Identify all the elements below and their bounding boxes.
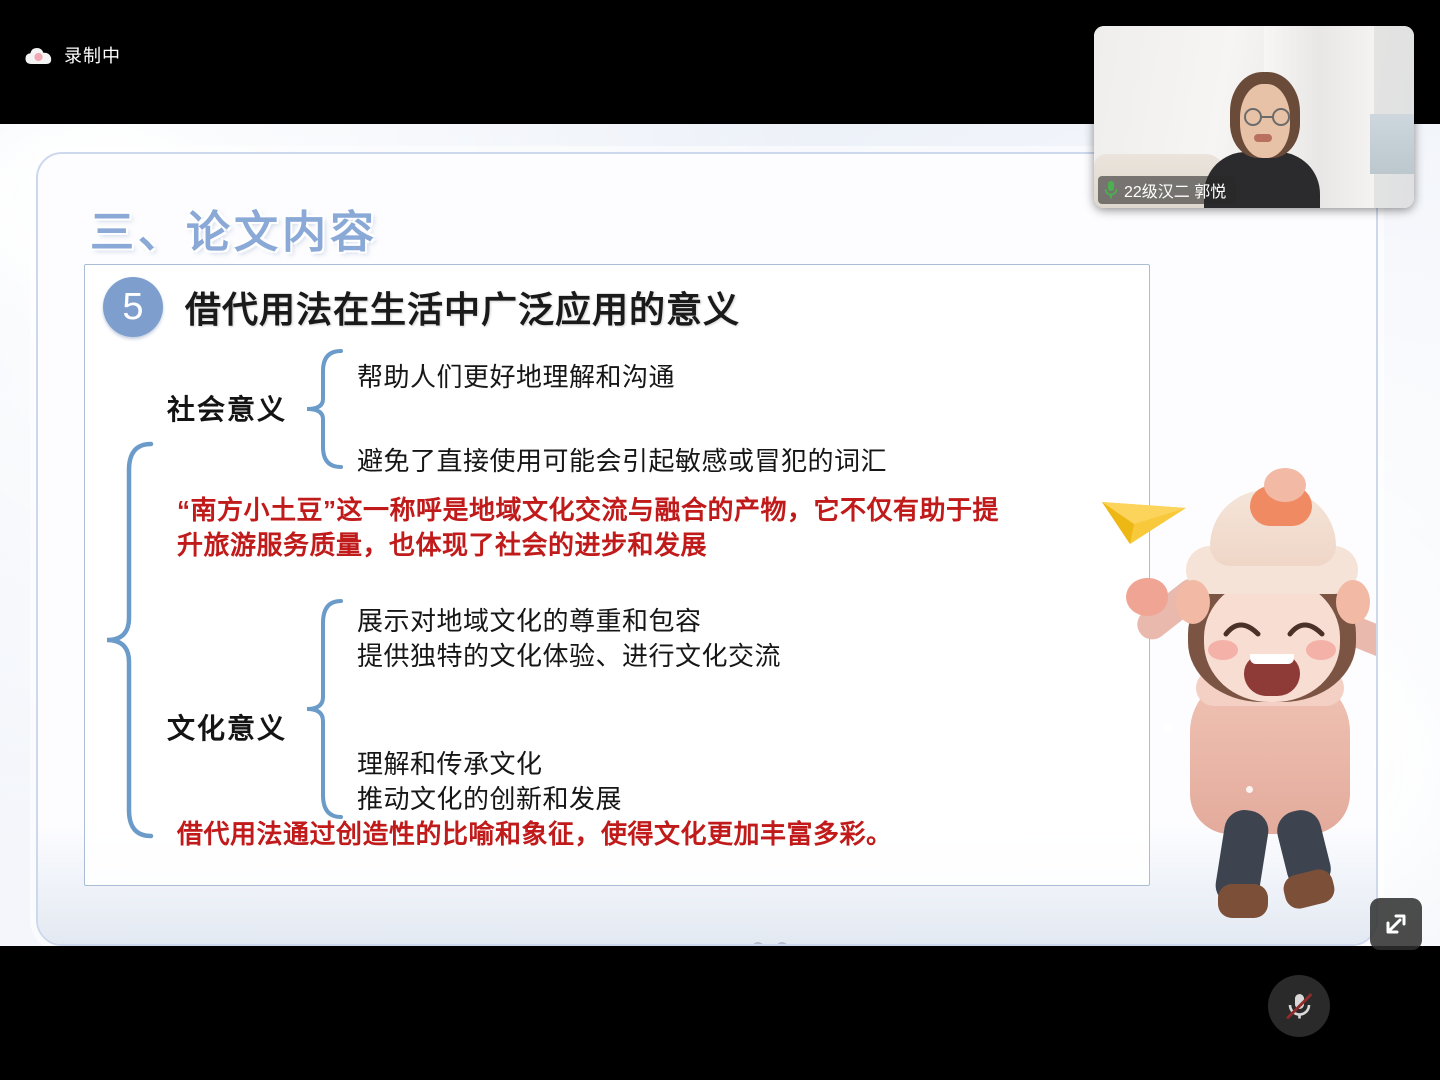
participant-label: 22级汉二 郭悦 (1098, 176, 1236, 204)
mic-muted-icon (1282, 989, 1316, 1023)
participant-name: 22级汉二 郭悦 (1124, 178, 1226, 202)
branch-brace-cultural (301, 597, 347, 823)
recording-status-label: 录制中 (64, 47, 121, 65)
expand-button[interactable] (1370, 898, 1422, 950)
video-person-mouth (1254, 134, 1272, 142)
slide-heading-row: 5 借代用法在生活中广泛应用的意义 (103, 277, 740, 337)
outer-brace-icon (91, 440, 161, 840)
slide-dots-divider (638, 941, 898, 946)
video-person-glasses (1238, 108, 1296, 126)
red-note-cultural: 借代用法通过创造性的比喻和象征，使得文化更加丰富多彩。 (177, 817, 1117, 852)
expand-icon (1382, 910, 1410, 938)
slide-content-box: 5 借代用法在生活中广泛应用的意义 社会意义 帮助人们更好地理解和沟通 避免了直… (84, 264, 1150, 886)
branch-line-social-2: 避免了直接使用可能会引起敏感或冒犯的词汇 (357, 441, 887, 478)
slide-heading-text: 借代用法在生活中广泛应用的意义 (185, 281, 740, 333)
participant-video-thumbnail[interactable]: 22级汉二 郭悦 (1094, 26, 1414, 208)
slide-card: 三、论文内容 5 借代用法在生活中广泛应用的意义 社会意义 帮助人们更好地理解和… (36, 152, 1378, 946)
screen-recording-view: 录制中 三、论文内容 5 借代用法在生活中广泛应用的意义 社会意义 (0, 0, 1440, 1080)
branch-line-cultural-1: 展示对地域文化的尊重和包容 (357, 601, 702, 638)
branch-line-social-1: 帮助人们更好地理解和沟通 (357, 357, 675, 394)
mic-mute-button[interactable] (1268, 975, 1330, 1037)
winter-child-illustration (1124, 474, 1378, 944)
branch-label-cultural: 文化意义 (167, 707, 287, 747)
branch-line-cultural-3: 理解和传承文化 (357, 744, 543, 781)
branch-brace-social (301, 347, 347, 471)
slide-section-title: 三、论文内容 (90, 196, 378, 260)
branch-line-cultural-4: 推动文化的创新和发展 (357, 779, 622, 816)
video-window-decor (1370, 114, 1414, 174)
branch-label-social: 社会意义 (167, 388, 287, 428)
item-number-badge: 5 (103, 277, 163, 337)
branch-line-cultural-2: 提供独特的文化体验、进行文化交流 (357, 636, 781, 673)
cloud-recording-icon (24, 44, 54, 68)
red-note-social: “南方小土豆”这一称呼是地域文化交流与融合的产物，它不仅有助于提 升旅游服务质量… (177, 493, 1077, 562)
recording-indicator: 录制中 (24, 44, 121, 68)
slide-stage: 三、论文内容 5 借代用法在生活中广泛应用的意义 社会意义 帮助人们更好地理解和… (0, 124, 1440, 946)
microphone-icon (1104, 180, 1118, 200)
